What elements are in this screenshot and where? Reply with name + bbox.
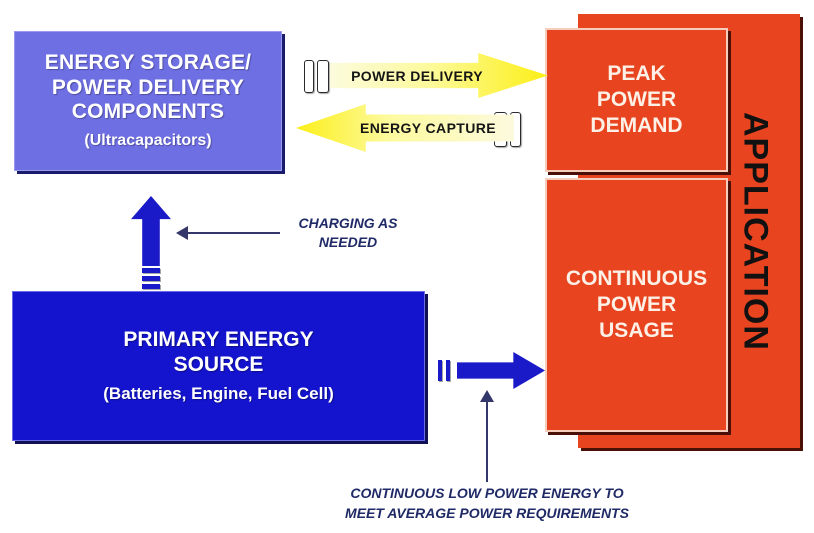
charging-arrow-up-icon [131, 196, 171, 266]
continuous-power-line-2: POWER [566, 292, 707, 318]
continuous-power-arrow-right-icon [457, 352, 545, 389]
diagram-canvas: APPLICATION PEAK POWER DEMAND CONTINUOUS… [0, 0, 814, 533]
peak-power-line-1: PEAK [590, 61, 682, 87]
peak-power-demand-text: PEAK POWER DEMAND [590, 61, 682, 140]
continuous-power-line-1: CONTINUOUS [566, 266, 707, 292]
power-delivery-tick-2 [317, 60, 329, 93]
peak-power-demand-block: PEAK POWER DEMAND [545, 28, 728, 172]
power-delivery-arrow-label: POWER DELIVERY [351, 68, 483, 84]
primary-source-title-line-2: SOURCE [174, 353, 264, 378]
application-label: APPLICATION [726, 14, 784, 448]
continuous-arrow-tick-2 [446, 360, 450, 381]
power-delivery-arrow: POWER DELIVERY [330, 53, 548, 98]
charging-leader-line [186, 232, 280, 234]
energy-storage-subtitle: (Ultracapacitors) [84, 132, 211, 151]
peak-power-line-3: DEMAND [590, 113, 682, 139]
primary-source-subtitle: (Batteries, Engine, Fuel Cell) [103, 384, 334, 404]
continuous-power-usage-block: CONTINUOUS POWER USAGE [545, 178, 728, 432]
energy-storage-title-line-1: ENERGY STORAGE/ [45, 51, 251, 76]
bottom-caption-leader-line [486, 400, 488, 482]
energy-storage-components-box: ENERGY STORAGE/ POWER DELIVERY COMPONENT… [14, 31, 282, 171]
charging-leader-arrowhead-icon [176, 226, 188, 240]
charging-annotation-line-1: CHARGING AS [283, 214, 413, 233]
energy-storage-title-line-3: COMPONENTS [72, 100, 225, 125]
bottom-caption-line-1: CONTINUOUS LOW POWER ENERGY TO [296, 484, 678, 504]
charging-annotation: CHARGING AS NEEDED [283, 214, 413, 252]
peak-power-line-2: POWER [590, 87, 682, 113]
charging-arrow-bar-2 [142, 276, 160, 281]
continuous-arrow-tick-1 [438, 360, 442, 381]
energy-storage-title-line-2: POWER DELIVERY [52, 76, 244, 101]
charging-arrow-bar-3 [142, 284, 160, 289]
primary-energy-source-box: PRIMARY ENERGY SOURCE (Batteries, Engine… [12, 291, 425, 441]
charging-arrow-bar-1 [142, 268, 160, 273]
bottom-caption: CONTINUOUS LOW POWER ENERGY TO MEET AVER… [296, 484, 678, 523]
charging-annotation-line-2: NEEDED [283, 233, 413, 252]
primary-source-title-line-1: PRIMARY ENERGY [123, 328, 313, 353]
continuous-power-usage-text: CONTINUOUS POWER USAGE [566, 266, 707, 345]
energy-capture-arrow: ENERGY CAPTURE [296, 104, 514, 152]
energy-capture-arrow-label: ENERGY CAPTURE [360, 120, 496, 136]
power-delivery-tick-1 [304, 60, 314, 93]
continuous-power-line-3: USAGE [566, 318, 707, 344]
bottom-caption-line-2: MEET AVERAGE POWER REQUIREMENTS [296, 504, 678, 524]
